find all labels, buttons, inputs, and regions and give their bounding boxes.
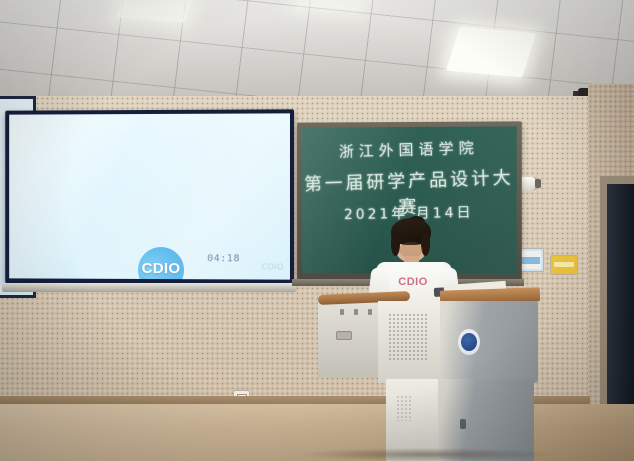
podium — [318, 287, 538, 461]
display-tray — [2, 283, 296, 292]
classroom-scene: 04:18 CDIO CDIO C Conceive 构思 D Design 设… — [0, 0, 634, 461]
podium-knob[interactable] — [340, 309, 344, 315]
slide-watermark: CDIO — [262, 262, 284, 271]
podium-speaker-grille — [388, 313, 428, 361]
podium-vent — [396, 395, 412, 421]
podium-floor-shadow — [300, 448, 552, 461]
university-emblem-icon — [458, 329, 480, 355]
podium-knob[interactable] — [368, 309, 372, 315]
interactive-display[interactable]: 04:18 CDIO CDIO C Conceive 构思 D Design 设… — [5, 109, 294, 284]
podium-latch[interactable] — [336, 331, 352, 340]
ceiling-light-panel — [446, 27, 536, 78]
podium-door-lock[interactable] — [460, 419, 466, 429]
cdio-logo-label: CDIO — [138, 260, 184, 277]
podium-knob[interactable] — [354, 309, 358, 315]
classroom-door[interactable] — [607, 184, 634, 434]
presentation-slide: 04:18 CDIO CDIO C Conceive 构思 D Design 设… — [9, 113, 290, 279]
yellow-wall-sign — [550, 255, 578, 275]
slide-timer: 04:18 — [207, 253, 240, 264]
sign-strip — [554, 262, 574, 267]
display-screen[interactable]: 04:18 CDIO CDIO C Conceive 构思 D Design 设… — [9, 113, 290, 279]
